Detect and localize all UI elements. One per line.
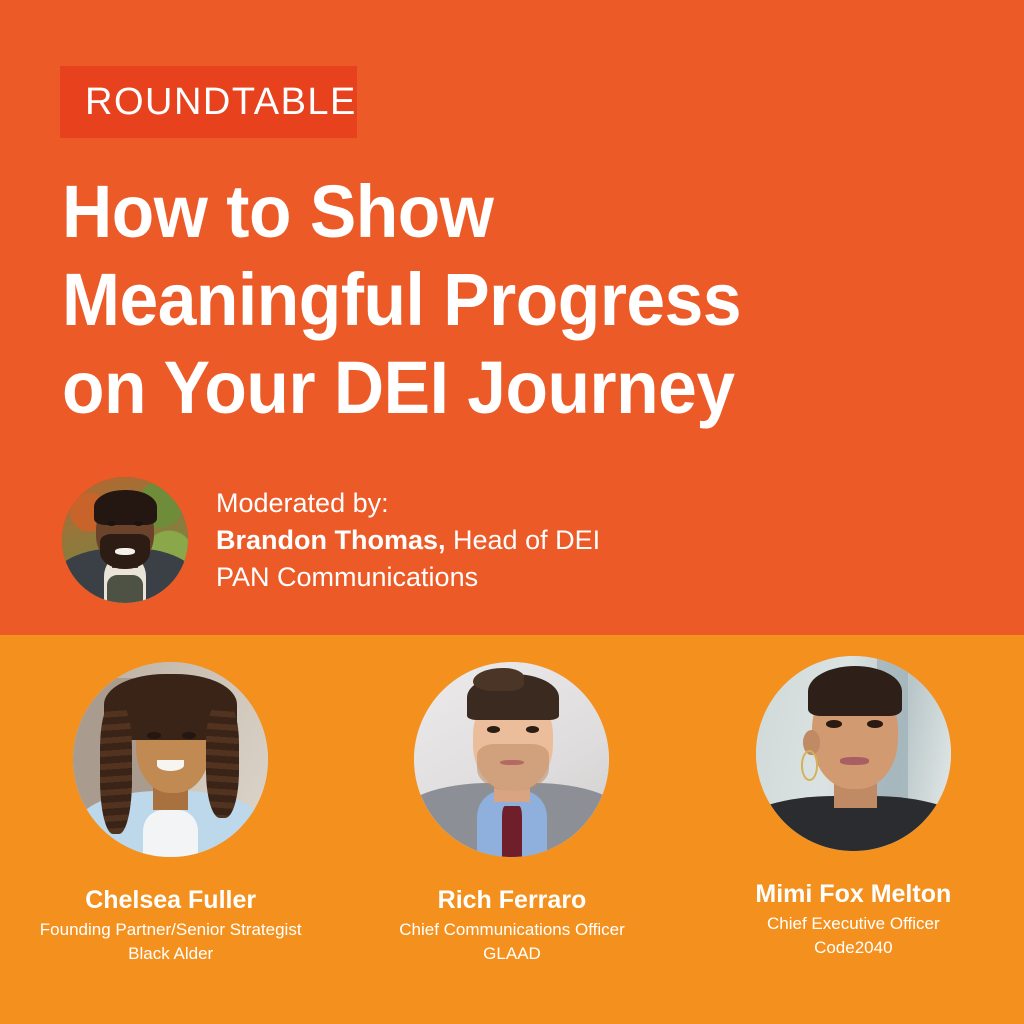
panelist-card: Chelsea Fuller Founding Partner/Senior S… [0, 662, 341, 965]
moderator-block: Moderated by: Brandon Thomas, Head of DE… [62, 477, 600, 603]
panelist-avatar [73, 662, 268, 857]
panelist-row: Chelsea Fuller Founding Partner/Senior S… [0, 662, 1024, 965]
panelist-avatar [414, 662, 609, 857]
moderator-name-title: Brandon Thomas, Head of DEI [216, 522, 600, 559]
panelist-role: Founding Partner/Senior Strategist [40, 919, 302, 941]
moderator-organization: PAN Communications [216, 559, 600, 596]
roundtable-badge: ROUNDTABLE [60, 66, 357, 138]
moderator-avatar [62, 477, 188, 603]
panelist-avatar [756, 656, 951, 851]
panelist-name: Chelsea Fuller [85, 886, 256, 914]
moderator-text: Moderated by: Brandon Thomas, Head of DE… [216, 485, 600, 596]
panelist-portrait-2-icon [414, 662, 609, 857]
headline-line-2: Meaningful Progress [62, 256, 908, 344]
panelist-card: Rich Ferraro Chief Communications Office… [341, 662, 682, 965]
panelist-portrait-1-icon [73, 662, 268, 857]
page-title: How to Show Meaningful Progress on Your … [62, 168, 962, 432]
headline-line-1: How to Show [62, 168, 908, 256]
moderator-portrait-icon [62, 477, 188, 603]
panelist-organization: Black Alder [128, 943, 213, 965]
panelist-name: Rich Ferraro [438, 886, 587, 914]
moderator-intro: Moderated by: [216, 485, 600, 522]
badge-label: ROUNDTABLE [85, 83, 357, 121]
panelist-card: Mimi Fox Melton Chief Executive Officer … [683, 656, 1024, 965]
panelist-role: Chief Communications Officer [399, 919, 625, 941]
panelist-organization: GLAAD [483, 943, 541, 965]
promo-graphic: ROUNDTABLE How to Show Meaningful Progre… [0, 0, 1024, 1024]
panelist-organization: Code2040 [814, 937, 892, 959]
panelist-portrait-3-icon [756, 656, 951, 851]
panelist-name: Mimi Fox Melton [755, 880, 951, 908]
panelist-role: Chief Executive Officer [767, 913, 940, 935]
moderator-name: Brandon Thomas, [216, 525, 446, 555]
headline-line-3: on Your DEI Journey [62, 344, 908, 432]
moderator-title: Head of DEI [446, 525, 601, 555]
